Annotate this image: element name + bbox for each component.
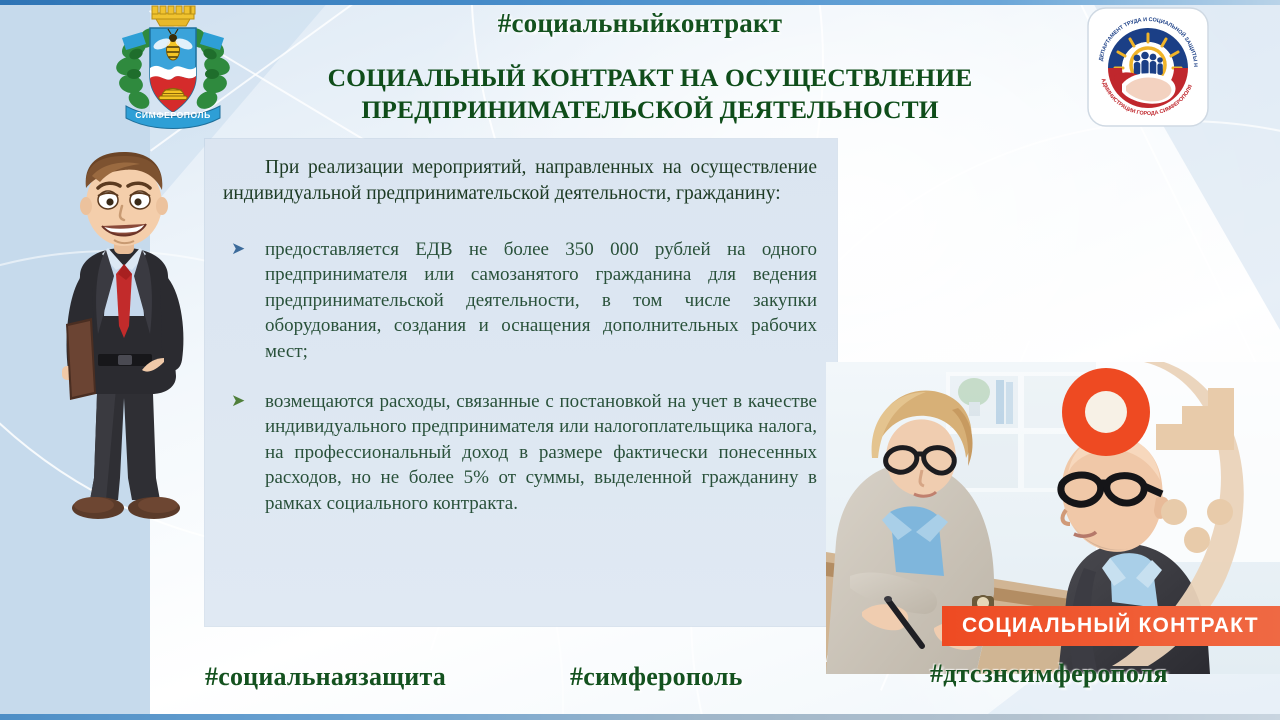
hashtag-simferopol: #симферополь	[570, 662, 743, 692]
intro-paragraph: При реализации мероприятий, направленных…	[223, 155, 817, 207]
coat-of-arms-banner-text: СИМФЕРОПОЛЬ	[135, 110, 211, 120]
hashtag-top: #социальныйконтракт	[0, 8, 1280, 39]
decorative-ring	[1062, 368, 1150, 456]
list-item: ➤ предоставляется ЕДВ не более 350 000 р…	[225, 237, 817, 365]
page-title-line-2: ПРЕДПРИНИМАТЕЛЬСКОЙ ДЕЯТЕЛЬНОСТИ	[255, 94, 1045, 126]
hashtag-dtszn-simferopol: #дтсзнсимферополя	[930, 659, 1168, 689]
photo-banner: СОЦИАЛЬНЫЙ КОНТРАКТ	[942, 606, 1280, 646]
arrow-bullet-icon: ➤	[231, 390, 245, 413]
bottom-accent-bar	[0, 714, 1280, 720]
bullet-list: ➤ предоставляется ЕДВ не более 350 000 р…	[205, 237, 837, 516]
list-item: ➤ возмещаются расходы, связанные с поста…	[225, 389, 817, 517]
arrow-bullet-icon: ➤	[231, 238, 245, 261]
page-title: СОЦИАЛЬНЫЙ КОНТРАКТ НА ОСУЩЕСТВЛЕНИЕ ПРЕ…	[255, 62, 1045, 125]
page-title-line-1: СОЦИАЛЬНЫЙ КОНТРАКТ НА ОСУЩЕСТВЛЕНИЕ	[255, 62, 1045, 94]
cartoon-businessman-illustration	[36, 148, 212, 538]
list-item-text: предоставляется ЕДВ не более 350 000 руб…	[265, 239, 817, 362]
content-panel: При реализации мероприятий, направленных…	[205, 139, 837, 626]
list-item-text: возмещаются расходы, связанные с постано…	[265, 391, 817, 514]
photo-banner-text: СОЦИАЛЬНЫЙ КОНТРАКТ	[962, 614, 1259, 638]
slide-root: СИМФЕРОПОЛЬ ДЕПАРТАМЕНТ ТРУДА И СОЦИАЛЬН…	[0, 0, 1280, 720]
photo-card: СОЦИАЛЬНЫЙ КОНТРАКТ	[826, 362, 1280, 674]
hashtag-social-protection: #социальнаязащита	[205, 662, 446, 692]
